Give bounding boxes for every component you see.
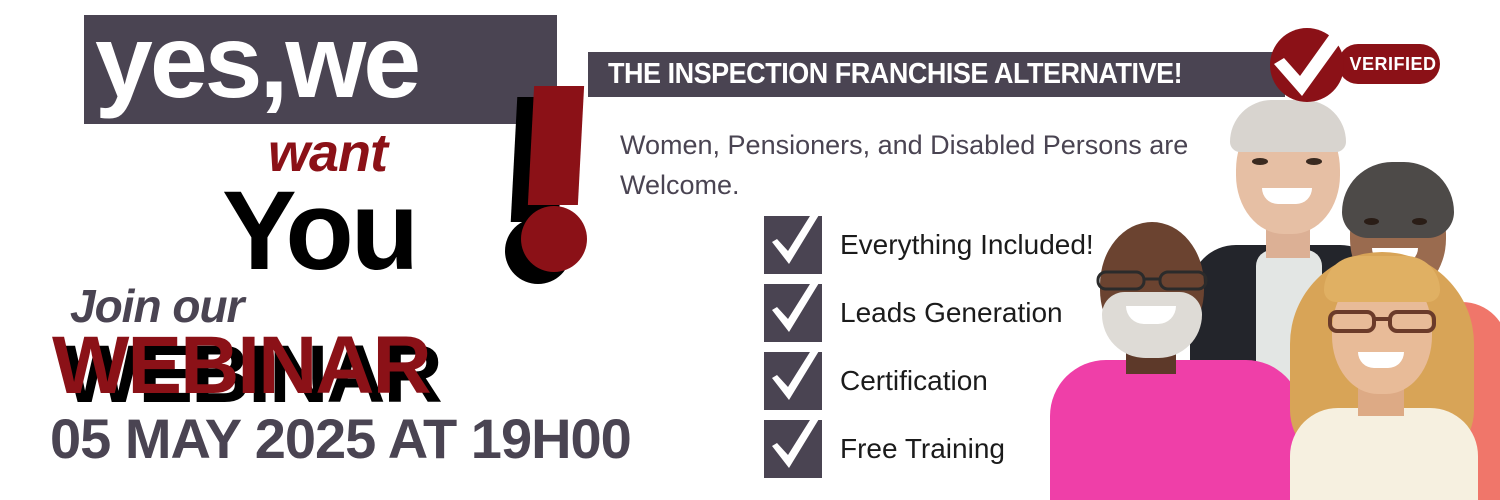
benefit-label: Free Training: [840, 428, 1005, 470]
pink-tshirt: [1050, 360, 1302, 500]
glasses-icon: [1096, 268, 1208, 292]
promo-banner: yes,we want You Join our WEBINAR WEBINAR…: [0, 0, 1500, 500]
benefit-label: Leads Generation: [840, 292, 1063, 334]
header-banner-text: THE INSPECTION FRANCHISE ALTERNATIVE!: [608, 58, 1182, 91]
event-date: 05 MAY 2025 AT 19H00: [50, 408, 631, 470]
checkbox: [764, 216, 822, 274]
glasses-icon: [1328, 308, 1436, 334]
cream-top: [1290, 408, 1478, 500]
verified-check-icon: [1262, 18, 1362, 110]
checkbox: [764, 284, 822, 342]
people-photo-group: [1050, 100, 1500, 500]
webinar-title: WEBINAR WEBINAR: [52, 322, 572, 402]
benefit-label: Certification: [840, 360, 988, 402]
header-banner: THE INSPECTION FRANCHISE ALTERNATIVE!: [588, 52, 1285, 97]
person-blonde-woman: [1282, 252, 1482, 500]
person-man-pink-shirt: [1062, 218, 1302, 500]
eye-left: [1252, 158, 1268, 165]
hair: [1342, 162, 1454, 238]
fringe: [1324, 256, 1440, 302]
eye-right: [1412, 218, 1427, 225]
eye-left: [1364, 218, 1379, 225]
checkbox: [764, 420, 822, 478]
headline-yes-we: yes,we: [95, 2, 418, 122]
beard: [1102, 292, 1202, 358]
webinar-title-main: WEBINAR: [52, 322, 430, 410]
checkbox: [764, 352, 822, 410]
exclamation-dot: [521, 206, 587, 272]
exclamation-bar: [528, 86, 584, 205]
headline-you: You: [222, 168, 416, 294]
